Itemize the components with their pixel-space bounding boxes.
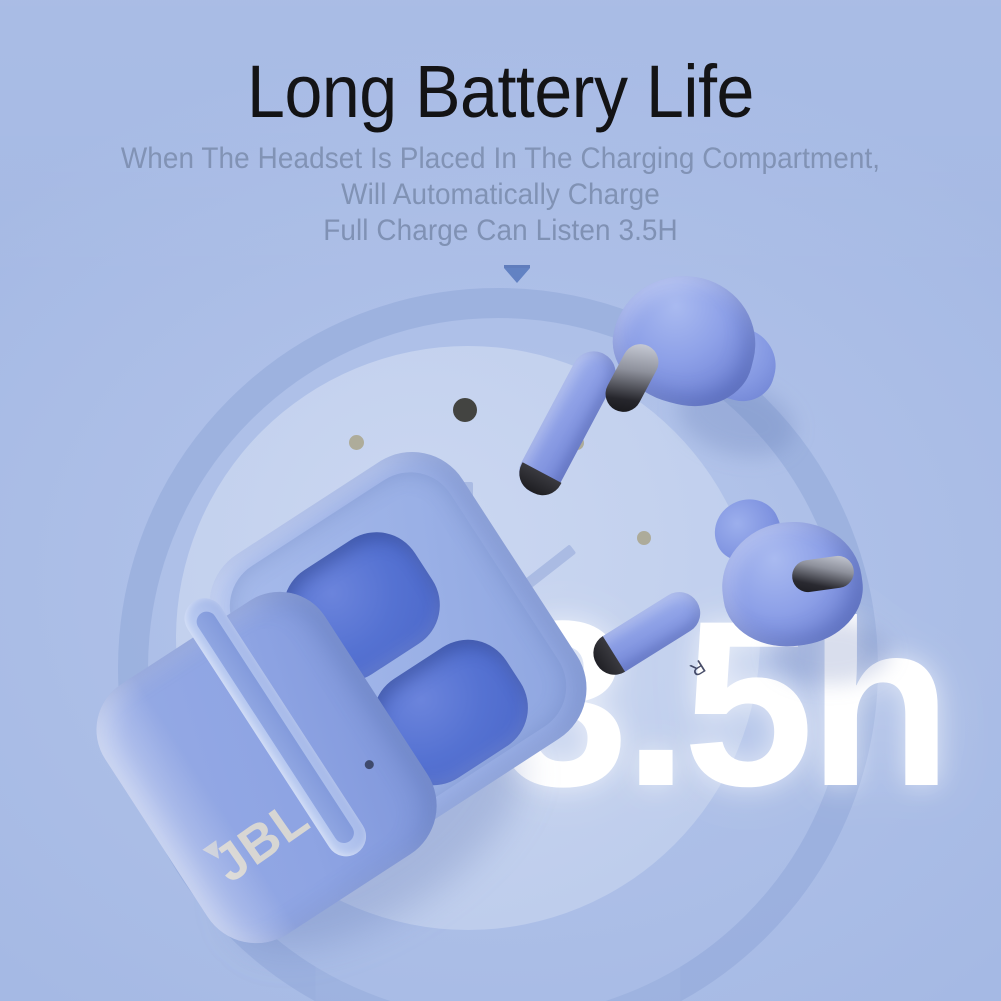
clock-marker-3 — [637, 531, 651, 545]
case-led-indicator — [363, 758, 375, 770]
page-title: Long Battery Life — [40, 52, 961, 132]
subtitle-line-2: Will Automatically Charge — [35, 177, 966, 213]
subtitle-line-1: When The Headset Is Placed In The Chargi… — [35, 141, 966, 177]
earbud-right: R — [660, 494, 910, 714]
earbud-left — [556, 276, 806, 526]
clock-marker-10 — [349, 435, 364, 450]
triangle-down-icon — [504, 268, 530, 283]
subtitle-line-3: Full Charge Can Listen 3.5H — [35, 213, 966, 249]
earbud-right-channel-label: R — [679, 649, 715, 685]
product-banner: 3.5h JBL R Long Batt — [0, 0, 1001, 1001]
